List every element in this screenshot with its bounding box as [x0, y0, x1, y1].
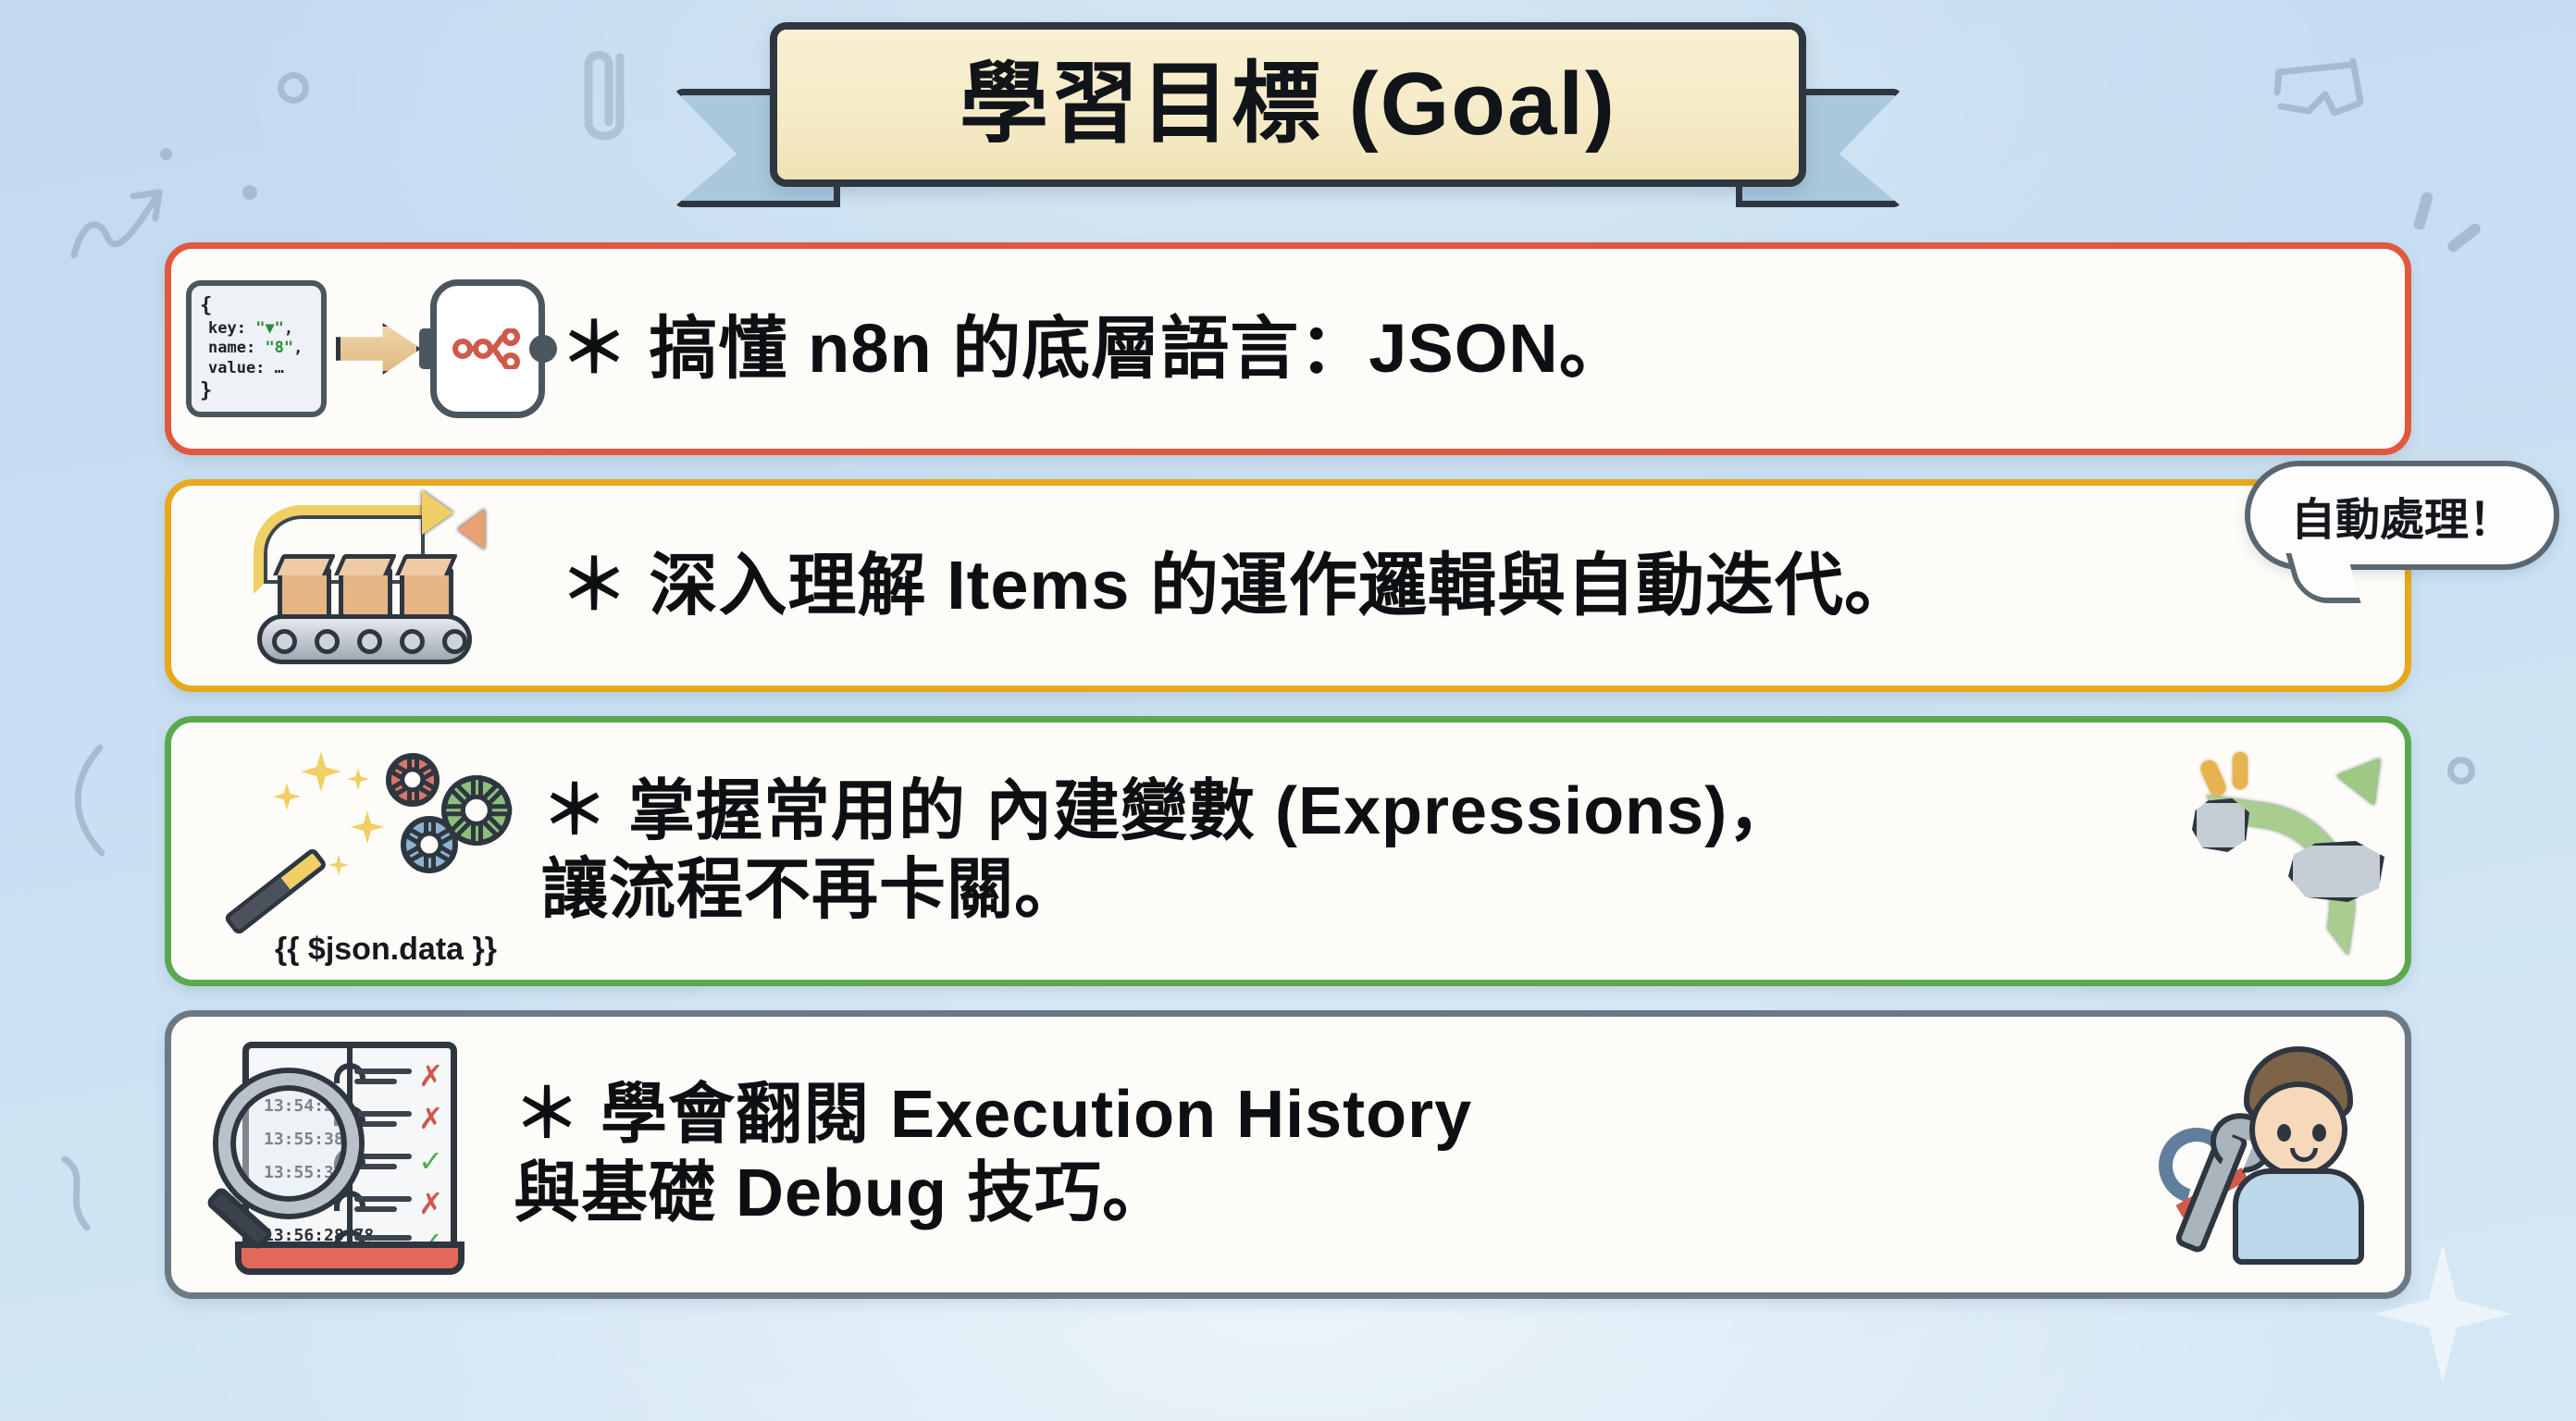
doodle-dash-2 — [2446, 221, 2483, 253]
log-entry: ✗ — [354, 1189, 443, 1218]
doodle-dot-3 — [160, 148, 172, 160]
log-entry-lines — [354, 1154, 412, 1169]
belt-roller — [272, 629, 297, 654]
boy-eye-left — [2277, 1124, 2291, 1142]
status-fail-icon: ✗ — [418, 1104, 443, 1133]
log-entry: ✗ — [354, 1061, 443, 1091]
log-entry-lines — [354, 1111, 412, 1127]
goal-card-list: { key: "▼", name: "8", value: … } ＊ 搞懂 n… — [165, 242, 2411, 1323]
json-line-3: value: … — [200, 359, 313, 378]
impact-spark-icon — [2233, 752, 2248, 789]
doodle-dot-2 — [242, 185, 257, 200]
json-code-block: { key: "▼", name: "8", value: … } — [186, 280, 327, 417]
goal-card-json-text: ＊ 搞懂 n8n 的底層語言：JSON。 — [560, 308, 2405, 389]
doodle-circle-right — [2447, 757, 2475, 785]
wand-gears-graphic: {{ $json.data }} — [232, 740, 480, 962]
doodle-paperclip-icon — [564, 37, 644, 155]
goal-line: ＊ 搞懂 n8n 的底層語言：JSON。 — [560, 308, 2405, 389]
goal-card-items[interactable]: ＊ 深入理解 Items 的運作邏輯與自動迭代。 — [165, 479, 2411, 692]
gear-icon-blue — [401, 816, 458, 873]
road-arrow-head-icon — [2336, 744, 2399, 806]
doodle-curve-left — [63, 740, 128, 860]
boy-with-wrench-icon — [2192, 1039, 2405, 1270]
gear-icon-red — [386, 753, 440, 807]
expression-code-label: {{ $json.data }} — [275, 932, 497, 968]
magnifier-logbook-icon: 13:54:22 13:55:38 13:55:37 13:56:28.78 ✗… — [171, 1034, 514, 1275]
package-box — [400, 568, 453, 620]
road-through-rocks-icon — [2192, 745, 2405, 958]
return-arrow-head-icon — [457, 509, 485, 550]
json-key-2: name: — [208, 339, 255, 357]
sparkle-icon — [328, 855, 349, 875]
json-comma-1: , — [284, 319, 293, 338]
goal-card-debug-text: ＊ 學會翻閱 Execution History 與基礎 Debug 技巧。 — [514, 1076, 2192, 1233]
status-pass-icon: ✓ — [418, 1146, 443, 1176]
magic-wand-gears-icon: {{ $json.data }} — [171, 740, 541, 962]
logbook-graphic: 13:54:22 13:55:38 13:55:37 13:56:28.78 ✗… — [218, 1034, 466, 1275]
belt-roller — [400, 629, 425, 654]
boy-eye-right — [2312, 1124, 2326, 1142]
loop-arrow-head-icon — [422, 490, 453, 535]
goal-line: 與基礎 Debug 技巧。 — [514, 1155, 2192, 1233]
json-value-1: "▼" — [255, 319, 284, 338]
sparkle-icon — [273, 783, 301, 810]
page-title: 學習目標 (Goal) — [960, 60, 1616, 149]
sparkle-icon — [351, 810, 384, 844]
log-entry: ✓ — [354, 1146, 443, 1176]
conveyor-belt-icon — [171, 503, 560, 668]
status-fail-icon: ✗ — [418, 1061, 443, 1091]
json-to-node-icon: { key: "▼", name: "8", value: … } — [171, 279, 560, 418]
sparkle-icon — [347, 768, 369, 790]
magnifier-lens-icon — [218, 1073, 359, 1214]
belt-roller — [315, 629, 340, 654]
boy-body — [2233, 1168, 2364, 1265]
doodle-circle — [278, 72, 309, 104]
belt-roller — [442, 629, 467, 654]
magic-wand-icon — [223, 846, 328, 936]
speech-bubble-text: 自動處理！ — [2291, 483, 2513, 548]
arrow-right-icon — [336, 322, 421, 376]
doodle-dash-1 — [2412, 191, 2434, 231]
json-key-1: key: — [208, 319, 246, 338]
json-brace-close: } — [200, 378, 313, 404]
goal-card-debug[interactable]: 13:54:22 13:55:38 13:55:37 13:56:28.78 ✗… — [165, 1010, 2411, 1299]
goal-line: ＊ 掌握常用的 內建變數 (Expressions)， — [541, 772, 2192, 851]
status-fail-icon: ✗ — [418, 1189, 443, 1218]
package-box — [278, 568, 331, 620]
belt-roller — [357, 629, 382, 654]
log-entry-lines — [354, 1196, 412, 1212]
sparkle-icon — [301, 751, 341, 792]
package-box — [339, 568, 392, 620]
goal-line: ＊ 深入理解 Items 的運作邏輯與自動迭代。 — [560, 545, 2405, 625]
speech-bubble: 自動處理！ — [2245, 461, 2559, 570]
conveyor-graphic — [250, 503, 481, 668]
rock-shape — [2288, 841, 2384, 902]
n8n-node-icon — [430, 279, 545, 418]
goal-card-expressions[interactable]: {{ $json.data }} ＊ 掌握常用的 內建變數 (Expressio… — [165, 716, 2411, 986]
logbook-cover — [235, 1242, 464, 1275]
banner-plate: 學習目標 (Goal) — [770, 22, 1806, 187]
log-entry: ✗ — [354, 1104, 443, 1133]
boy-mouth — [2290, 1148, 2318, 1162]
title-banner: 學習目標 (Goal) — [687, 22, 1889, 221]
doodle-wave-left — [54, 1152, 118, 1235]
goal-card-items-text: ＊ 深入理解 Items 的運作邏輯與自動迭代。 — [560, 545, 2405, 625]
goal-line: ＊ 學會翻閱 Execution History — [514, 1076, 2192, 1155]
json-brace-open: { — [200, 293, 313, 319]
impact-spark-icon — [2198, 758, 2229, 798]
doodle-sketch-shape — [2272, 56, 2392, 134]
log-entry-lines — [354, 1069, 412, 1084]
goal-card-expressions-text: ＊ 掌握常用的 內建變數 (Expressions)， 讓流程不再卡關。 — [541, 772, 2192, 930]
goal-card-json[interactable]: { key: "▼", name: "8", value: … } ＊ 搞懂 n… — [165, 242, 2411, 455]
doodle-squiggly-arrow — [67, 165, 178, 262]
json-comma-2: , — [293, 339, 303, 357]
goal-line: 讓流程不再卡關。 — [541, 851, 2192, 930]
boy-head — [2249, 1081, 2347, 1178]
json-value-2: "8" — [265, 339, 293, 357]
